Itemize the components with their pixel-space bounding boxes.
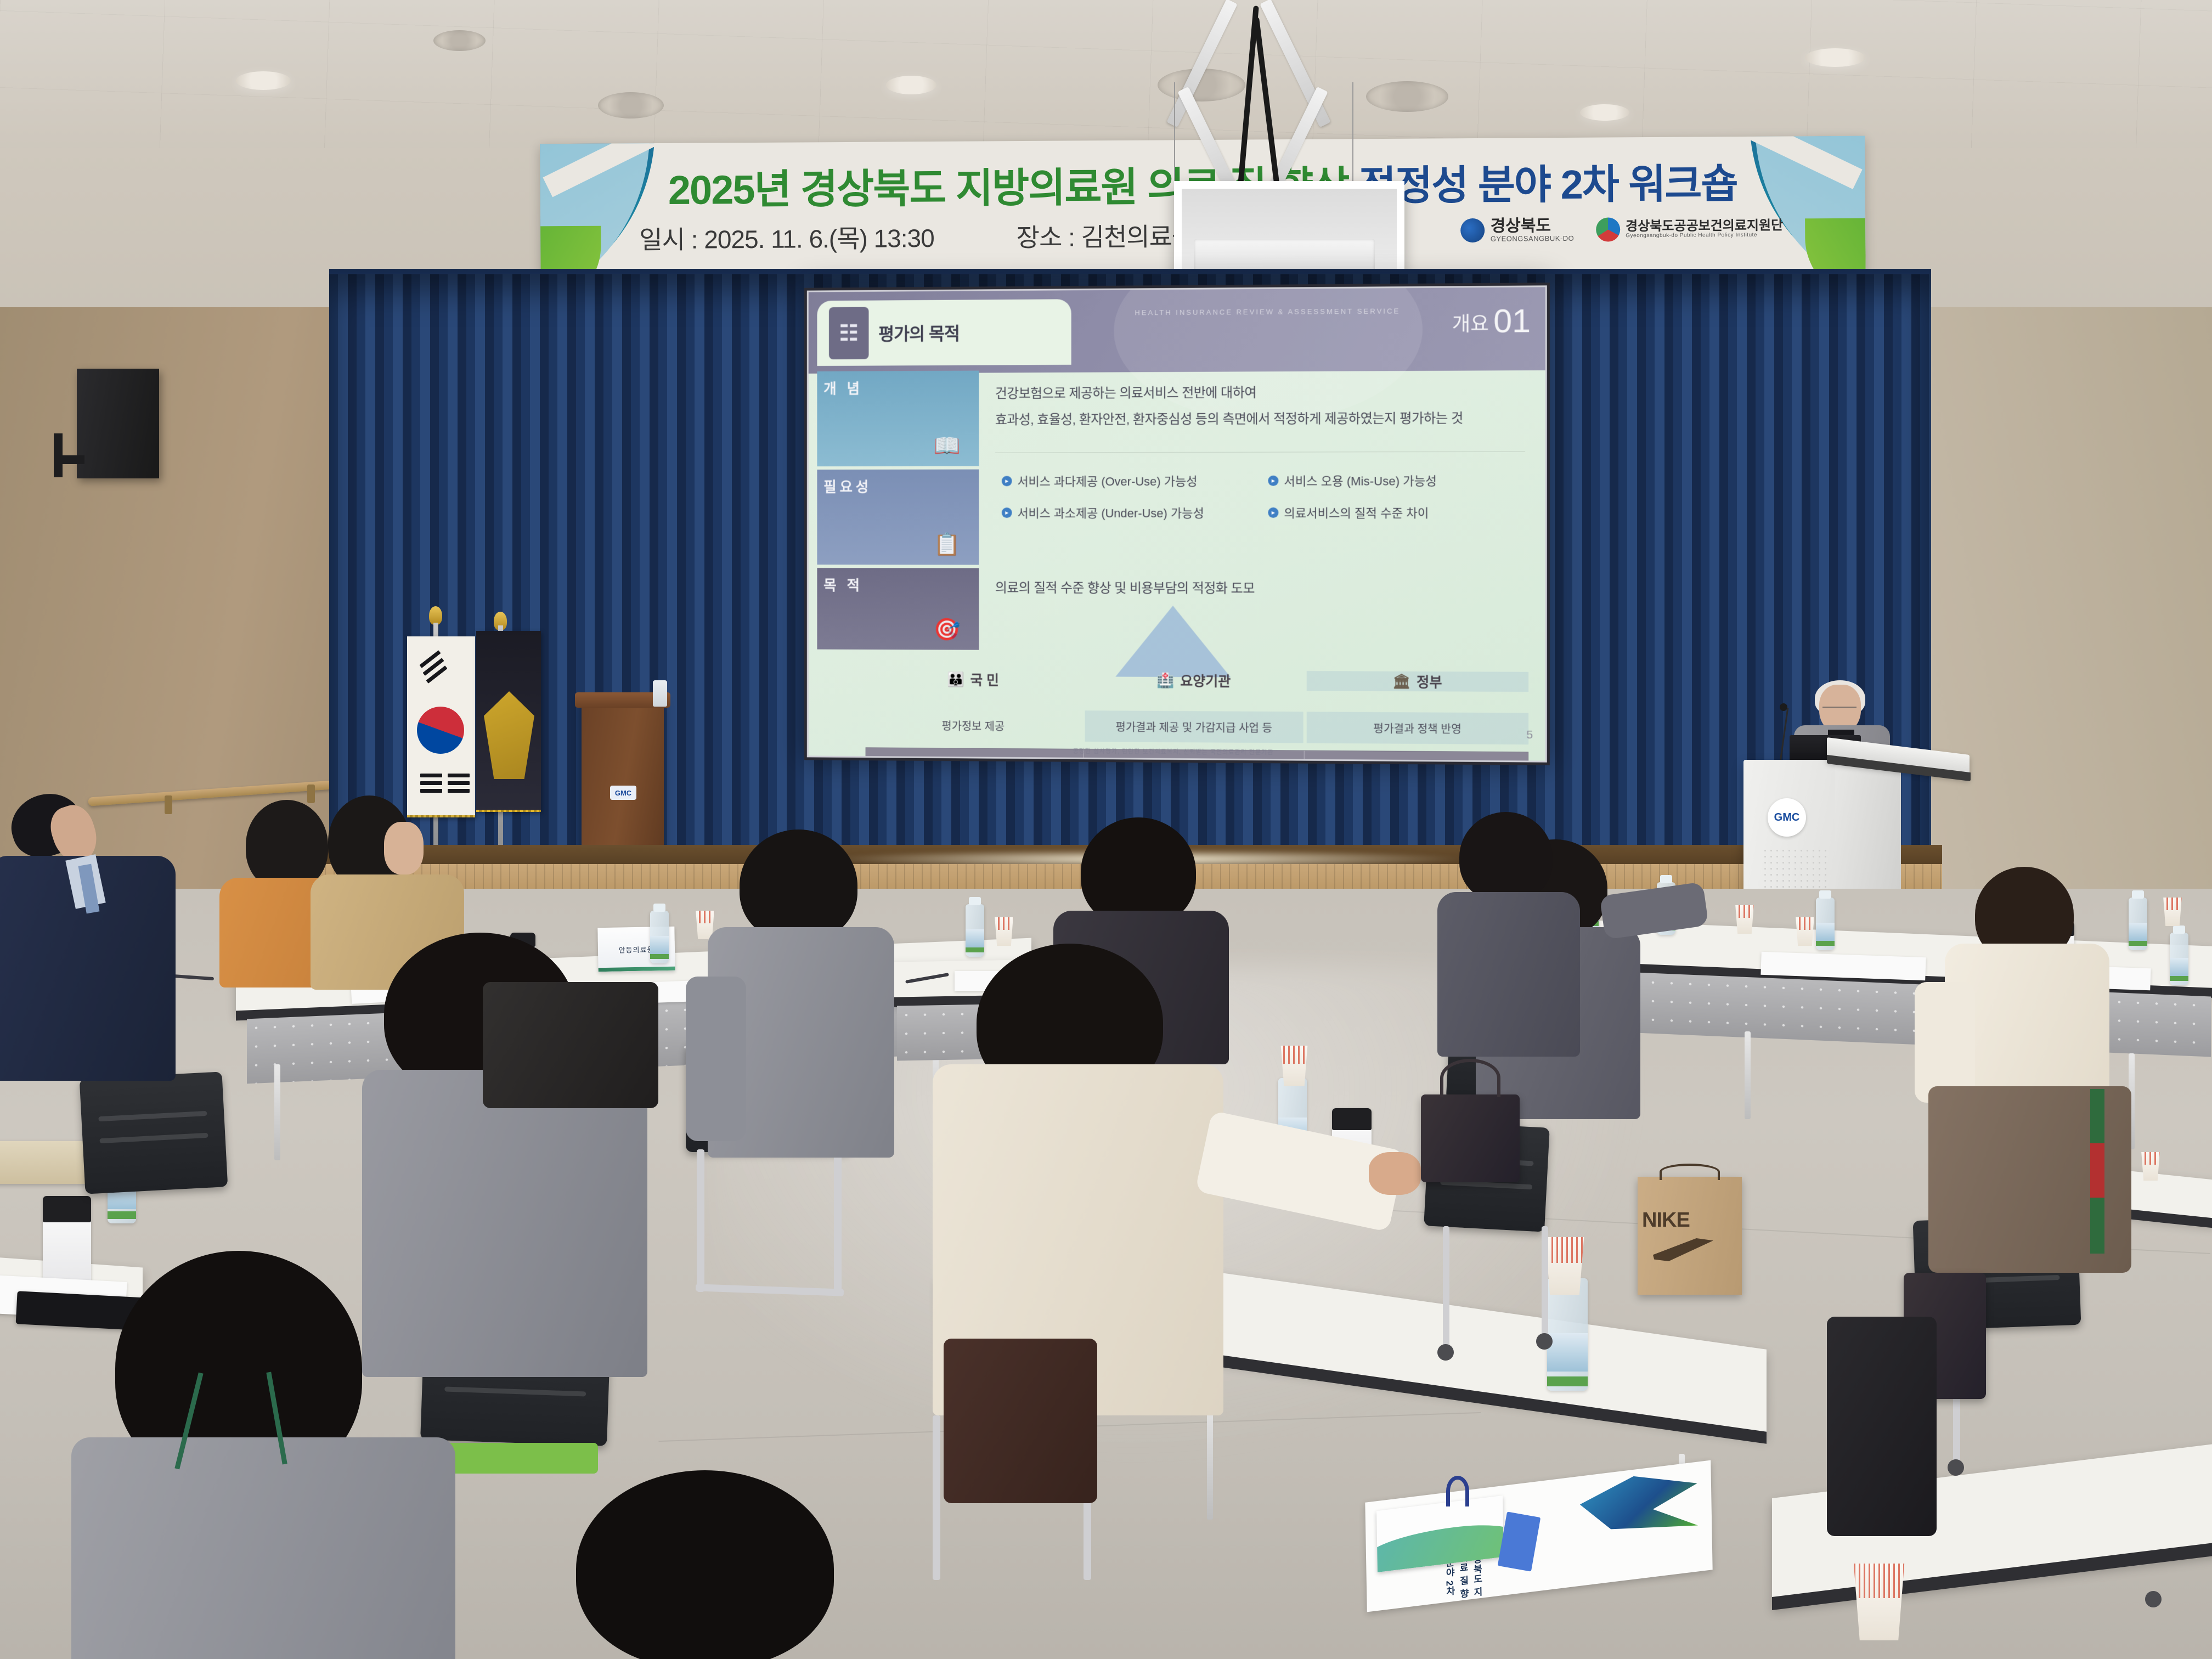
attendee-face — [384, 822, 424, 874]
ceiling-projector — [1163, 0, 1421, 307]
chair-frame — [933, 1415, 940, 1580]
slide-actor-headings: 👪 국 민 🏥 요양기관 🏛 정부 — [866, 669, 1529, 692]
slide-section-number: 개요 01 — [1452, 302, 1531, 340]
people-icon: 👪 — [947, 671, 965, 688]
water-bottle — [650, 911, 669, 963]
chair-frame — [1443, 1226, 1449, 1347]
ceiling-light-icon — [886, 76, 936, 94]
table-leg — [274, 1064, 280, 1160]
target-icon: 🎯 — [934, 617, 961, 642]
attendee-arm — [1915, 982, 1975, 1103]
booklet-logo-icon — [1579, 1469, 1698, 1540]
slide-row-necessity-label: 필요성 — [823, 476, 872, 496]
attendee-hair — [1459, 812, 1553, 902]
checklist-icon: 📋 — [934, 532, 961, 557]
banner-subtitle: 일시 : 2025. 11. 6.(목) 13:30 장소 : 김천의료원 — [639, 217, 1194, 256]
handrail-bracket — [307, 785, 315, 803]
handrail-bracket — [165, 795, 172, 814]
bag-handle — [1660, 1164, 1720, 1180]
gyeongsangbuk-logo: 경상북도 GYEONGSANGBUK-DO — [1461, 217, 1575, 242]
wall-speaker-bracket — [54, 433, 63, 477]
ceiling-vent-icon — [598, 92, 664, 119]
chair-caster — [1536, 1333, 1553, 1350]
projection-screen: HEALTH INSURANCE REVIEW & ASSESSMENT SER… — [804, 283, 1550, 765]
lanyard — [1446, 1476, 1469, 1506]
hospital-icon: 🏥 — [1157, 672, 1175, 689]
attendee-arm — [686, 977, 746, 1141]
chair-caster — [2145, 1591, 2162, 1607]
slide-actor-label: 정부 — [1417, 672, 1442, 691]
chair-caster — [1437, 1344, 1454, 1361]
lectern-logo: GMC — [1768, 798, 1806, 837]
attendee-hair — [246, 800, 328, 890]
podium-badge: GMC — [610, 786, 636, 800]
slide-concept-line-1: 건강보험으로 제공하는 의료서비스 전반에 대하여 — [995, 381, 1256, 402]
ceiling — [0, 0, 2212, 165]
bullet-marker-icon: ▸ — [1268, 475, 1278, 486]
bullet-marker-icon: ▸ — [1002, 476, 1012, 486]
tumbler — [43, 1196, 91, 1289]
chair-frame — [1542, 1226, 1548, 1336]
slide-actor-label: 요양기관 — [1180, 670, 1231, 690]
presentation-slide: HEALTH INSURANCE REVIEW & ASSESSMENT SER… — [809, 287, 1545, 760]
nike-shopping-bag: NIKE — [1638, 1177, 1742, 1295]
slide-bullet-text: 서비스 과다제공 (Over-Use) 가능성 — [1018, 472, 1198, 489]
slide-purpose-text: 의료의 질적 수준 향상 및 비용부담의 적정화 도모 — [995, 577, 1255, 596]
banner-date: 일시 : 2025. 11. 6.(목) 13:30 — [639, 218, 934, 256]
slide-bullet: ▸ 서비스 과다제공 (Over-Use) 가능성 — [1002, 472, 1260, 490]
attendee-hair — [576, 1470, 834, 1659]
slide-row-concept: 개 념 📖 — [817, 371, 979, 467]
table-leg — [1745, 1031, 1751, 1119]
snack-tray — [0, 1141, 93, 1184]
lectern-side-panel — [1835, 765, 1901, 909]
slide-section-num: 01 — [1493, 302, 1531, 340]
health-policy-institute-logo-icon — [1596, 217, 1620, 241]
book-icon: 📖 — [934, 433, 961, 459]
attendee-torso — [362, 1070, 647, 1377]
slide-page-number: 5 — [1526, 729, 1533, 742]
slide-bullet-text: 서비스 과소제공 (Under-Use) 가능성 — [1018, 504, 1204, 521]
nike-swoosh-icon — [1653, 1238, 1713, 1261]
attendee-bag-strap — [2090, 1089, 2104, 1254]
slide-actor-government: 🏛 정부 — [1307, 671, 1528, 692]
ceiling-vent-icon — [433, 30, 486, 51]
slide-bullet: ▸ 서비스 오용 (Mis-Use) 가능성 — [1268, 471, 1531, 489]
slide-concept-line-2: 효과성, 효율성, 환자안전, 환자중심성 등의 측면에서 적정하게 제공하였는… — [995, 407, 1463, 428]
placard-org: 안동의료원 — [618, 944, 654, 955]
conference-hall-photo: 2025년 경상북도 지방의료원 의료 질 향상 적정성 분야 2차 워크숍 일… — [0, 0, 2212, 1659]
gyeongsangbuk-logo-en: GYEONGSANGBUK-DO — [1491, 234, 1575, 242]
slide-action-row: 평가정보 제공 평가결과 제공 및 가감지급 사업 등 평가결과 정책 반영 — [866, 709, 1529, 744]
slide-row-purpose-label: 목 적 — [823, 574, 863, 595]
slide-bullet-list: ▸ 서비스 과다제공 (Over-Use) 가능성 ▸ 서비스 오용 (Mis-… — [1002, 471, 1531, 521]
draped-coat — [1827, 1317, 1937, 1536]
slide-action-cell: 평가결과 정책 반영 — [1307, 712, 1528, 744]
attendee-torso — [71, 1437, 455, 1659]
slide-actor-label: 국 민 — [970, 669, 999, 689]
government-icon: 🏛 — [1392, 673, 1410, 690]
water-bottle — [1816, 898, 1835, 950]
slide-row-concept-label: 개 념 — [823, 377, 863, 398]
water-bottle — [966, 904, 984, 957]
slide-body: 개 념 📖 필요성 📋 목 적 🎯 건강보험으로 제공하는 의료서비스 전반에 … — [817, 368, 1536, 729]
ceiling-light-icon — [1805, 48, 1865, 67]
slide-action-cell: 평가정보 제공 — [866, 709, 1082, 742]
slide-tab-icon: ☷ — [829, 307, 869, 359]
chair-seat[interactable] — [439, 1443, 598, 1474]
slide-actor-providers: 🏥 요양기관 — [1085, 670, 1304, 691]
water-bottle — [2129, 898, 2147, 950]
chair-frame — [834, 1147, 842, 1292]
institute-logo-en: Gyeongsangbuk-do Public Health Policy In… — [1626, 232, 1783, 239]
slide-title: 평가의 목적 — [878, 320, 960, 345]
microphone-icon — [1780, 703, 1787, 711]
attendee-torso — [1437, 892, 1580, 1057]
upward-triangle-icon — [1115, 606, 1231, 678]
attendee-hand — [1369, 1152, 1421, 1195]
slide-bullet: ▸ 서비스 과소제공 (Under-Use) 가능성 — [1002, 504, 1260, 521]
gyeongsangbuk-logo-kr: 경상북도 — [1491, 217, 1575, 235]
slide-header-english: HEALTH INSURANCE REVIEW & ASSESSMENT SER… — [1135, 307, 1400, 317]
bullet-marker-icon: ▸ — [1002, 507, 1012, 518]
bullet-marker-icon: ▸ — [1268, 507, 1278, 517]
handbag-strap — [1440, 1059, 1500, 1097]
institute-logo-kr: 경상북도공공보건의료지원단 — [1626, 218, 1783, 233]
slide-row-purpose: 목 적 🎯 — [817, 568, 979, 650]
ceiling-light-icon — [236, 71, 291, 90]
nike-bag-text: NIKE — [1642, 1209, 1746, 1232]
wall-speaker-icon — [77, 369, 159, 478]
slide-actor-citizens: 👪 국 민 — [866, 669, 1082, 690]
slide-bullet-text: 서비스 오용 (Mis-Use) 가능성 — [1284, 471, 1436, 489]
draped-coat — [483, 982, 658, 1108]
water-bottle — [1547, 1278, 1588, 1391]
handbag — [1421, 1094, 1520, 1182]
banner-logos: 경상북도 GYEONGSANGBUK-DO 경상북도공공보건의료지원단 Gyeo… — [1461, 216, 1784, 243]
slide-row-necessity: 필요성 📋 — [817, 470, 979, 565]
gyeongsangbuk-logo-icon — [1461, 218, 1485, 242]
institute-logo: 경상북도공공보건의료지원단 Gyeongsangbuk-do Public He… — [1596, 216, 1783, 241]
chair-frame — [697, 1149, 704, 1292]
attendee-hair — [740, 830, 857, 942]
ceiling-tiles — [0, 0, 2212, 165]
slide-action-cell: 평가결과 제공 및 가감지급 사업 등 — [1085, 710, 1304, 743]
chair-caster — [1948, 1459, 1964, 1476]
slide-bullet: ▸ 의료서비스의 질적 수준 차이 — [1268, 504, 1531, 521]
speaker-glasses-icon — [1822, 707, 1857, 713]
draped-coat — [944, 1339, 1097, 1503]
slide-title-tab: ☷ 평가의 목적 — [817, 299, 1071, 366]
chair[interactable] — [80, 1071, 228, 1194]
ceiling-light-icon — [1580, 104, 1629, 121]
slide-bullet-text: 의료서비스의 질적 수준 차이 — [1284, 504, 1429, 521]
podium-water-bottle — [653, 680, 667, 707]
water-bottle — [2170, 933, 2188, 985]
slide-section-kr: 개요 — [1452, 308, 1489, 340]
